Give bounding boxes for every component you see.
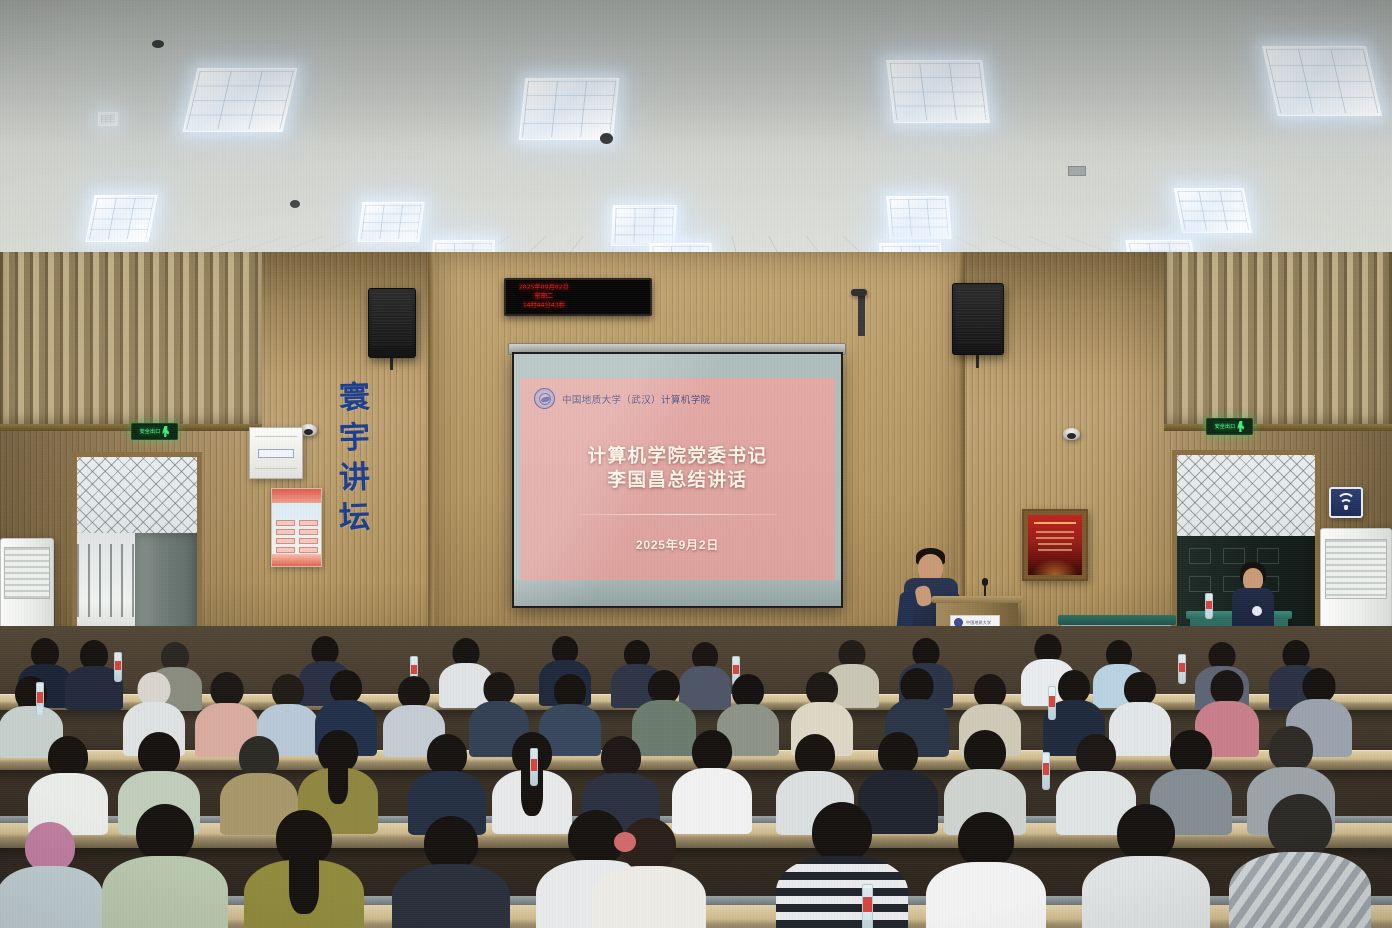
curtain-right bbox=[1164, 252, 1392, 430]
attendant-badge-icon bbox=[1252, 606, 1262, 616]
running-man-icon bbox=[162, 426, 169, 437]
exit-sign-label: 安全出口 bbox=[140, 428, 161, 435]
audience-person bbox=[930, 812, 1042, 928]
microphone-icon bbox=[982, 578, 988, 586]
water-bottle bbox=[530, 748, 538, 786]
doorway-left[interactable] bbox=[72, 452, 202, 652]
audience-person bbox=[596, 818, 702, 928]
running-man-icon bbox=[1237, 421, 1244, 432]
wall-control-box[interactable] bbox=[249, 427, 303, 479]
speaker-bracket-right bbox=[976, 354, 979, 368]
audience-person bbox=[1086, 804, 1206, 928]
exit-sign-label: 安全出口 bbox=[1215, 423, 1236, 430]
screen-bottom-band bbox=[514, 580, 841, 606]
podium-plaque-text: 中国地质大学 bbox=[966, 620, 991, 626]
water-bottle bbox=[1178, 654, 1186, 684]
lecture-hall-photo: 寰 宇 讲 坛 2025年09月02日 星期二 14时44分43秒 安全出口 安… bbox=[0, 0, 1392, 928]
led-time: 14时44分43秒 bbox=[523, 302, 565, 310]
wifi-icon bbox=[1336, 495, 1356, 510]
dome-camera-icon bbox=[1063, 428, 1080, 440]
slide-org-name: 中国地质大学（武汉）计算机学院 bbox=[562, 392, 711, 406]
slide-date: 2025年9月2日 bbox=[520, 536, 835, 553]
wall-poster-red bbox=[1022, 509, 1088, 581]
audience-person bbox=[780, 802, 904, 928]
audience-person bbox=[1234, 794, 1366, 928]
audience-person bbox=[30, 736, 106, 826]
curtain-rail-right bbox=[1164, 424, 1392, 431]
water-bottle bbox=[36, 682, 44, 716]
presentation-slide: 中国地质大学（武汉）计算机学院 计算机学院党委书记 李国昌总结讲话 2025年9… bbox=[520, 378, 835, 582]
audience-person bbox=[674, 730, 750, 826]
slide-branding: 中国地质大学（武汉）计算机学院 bbox=[534, 388, 711, 409]
slide-divider bbox=[578, 514, 777, 515]
exit-sign-left: 安全出口 bbox=[131, 423, 178, 440]
led-clock-display: 2025年09月02日 星期二 14时44分43秒 bbox=[504, 278, 652, 316]
audience-person bbox=[410, 734, 484, 826]
projection-screen: 中国地质大学（武汉）计算机学院 计算机学院党委书记 李国昌总结讲话 2025年9… bbox=[512, 352, 843, 608]
slide-title-line-1: 计算机学院党委书记 bbox=[520, 444, 835, 468]
ceiling bbox=[0, 0, 1392, 268]
audience-person bbox=[248, 810, 360, 928]
door-transom-left bbox=[77, 457, 197, 533]
wifi-sign bbox=[1329, 487, 1363, 518]
water-bottle bbox=[1048, 686, 1056, 720]
water-bottle bbox=[1042, 752, 1050, 790]
exit-sign-right: 安全出口 bbox=[1206, 418, 1253, 435]
door-transom-right bbox=[1177, 455, 1315, 536]
university-emblem-icon bbox=[534, 388, 555, 409]
wall-calligraphy: 寰 宇 讲 坛 bbox=[332, 383, 376, 534]
calligraphy-char: 寰 bbox=[338, 382, 370, 414]
calligraphy-char: 宇 bbox=[338, 422, 370, 454]
slide-title-line-2: 李国昌总结讲话 bbox=[520, 468, 835, 492]
wall-speaker-left bbox=[368, 288, 416, 358]
led-date: 2025年09月02日 bbox=[519, 284, 569, 292]
projector-mount-bracket bbox=[858, 296, 865, 336]
audience-person bbox=[106, 804, 224, 928]
water-bottle bbox=[114, 652, 122, 682]
audience-person bbox=[0, 822, 100, 928]
hair-scrunchie-icon bbox=[614, 832, 636, 852]
curtain-left bbox=[0, 252, 262, 430]
wall-poster-color bbox=[271, 488, 322, 567]
led-weekday: 星期二 bbox=[535, 293, 554, 301]
control-box-label bbox=[258, 449, 294, 458]
calligraphy-char: 坛 bbox=[338, 502, 370, 534]
wall-camera-icon bbox=[851, 289, 867, 296]
audience-area bbox=[0, 626, 1392, 928]
audience-person bbox=[396, 816, 506, 928]
calligraphy-char: 讲 bbox=[338, 462, 370, 494]
water-bottle bbox=[862, 884, 873, 928]
wall-speaker-right bbox=[952, 283, 1004, 355]
bay-edge-left bbox=[428, 252, 434, 652]
slide-title: 计算机学院党委书记 李国昌总结讲话 bbox=[520, 444, 835, 493]
water-bottle bbox=[1205, 593, 1213, 619]
speaker-bracket-left bbox=[390, 356, 393, 370]
